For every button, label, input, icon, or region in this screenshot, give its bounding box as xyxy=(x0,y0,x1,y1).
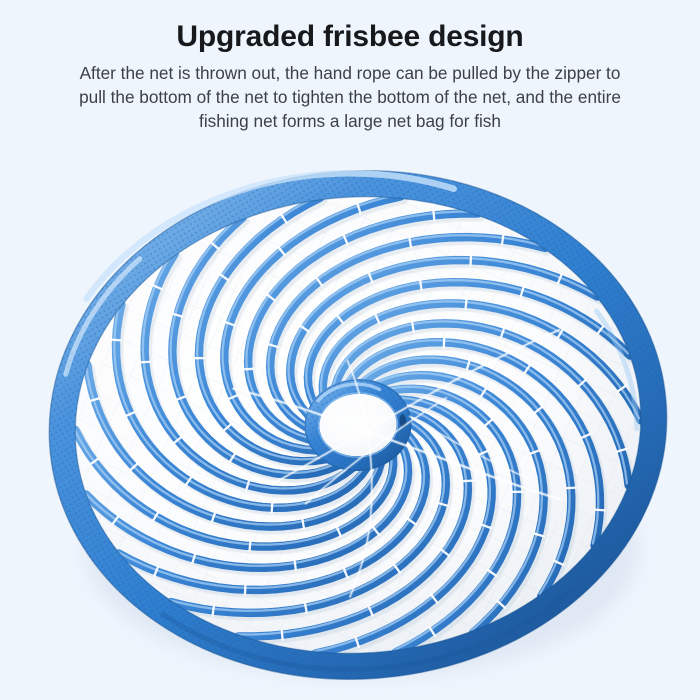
net-thread-tie xyxy=(433,210,434,220)
net-thread-tie xyxy=(140,362,150,363)
net-thread-tie xyxy=(595,509,605,511)
frisbee-disc-illustration xyxy=(0,148,700,700)
net-thread-tie xyxy=(243,369,253,370)
description-line-2: pull the bottom of the net to tighten th… xyxy=(28,85,672,109)
net-thread-tie xyxy=(443,337,445,347)
net-thread-tie xyxy=(420,280,421,290)
page-description: After the net is thrown out, the hand ro… xyxy=(0,54,700,134)
net-thread-tie xyxy=(111,339,121,341)
product-photo xyxy=(0,148,700,700)
net-thread-tie xyxy=(470,255,472,265)
net-thread-tie xyxy=(566,488,576,489)
description-line-3: fishing net forms a large net bag for fi… xyxy=(28,109,672,133)
product-detail-page: Upgraded frisbee design After the net is… xyxy=(0,0,700,700)
net-thread-tie xyxy=(295,560,296,570)
description-line-1: After the net is thrown out, the hand ro… xyxy=(28,61,672,85)
net-thread-tie xyxy=(271,502,273,512)
net-thread-tie xyxy=(194,357,204,358)
page-title: Upgraded frisbee design xyxy=(0,0,700,54)
header-text-block: Upgraded frisbee design After the net is… xyxy=(0,0,700,134)
net-thread-tie xyxy=(462,480,472,481)
net-thread-tie xyxy=(244,585,246,595)
net-thread-tie xyxy=(512,491,522,492)
net-thread-tie xyxy=(282,629,283,639)
